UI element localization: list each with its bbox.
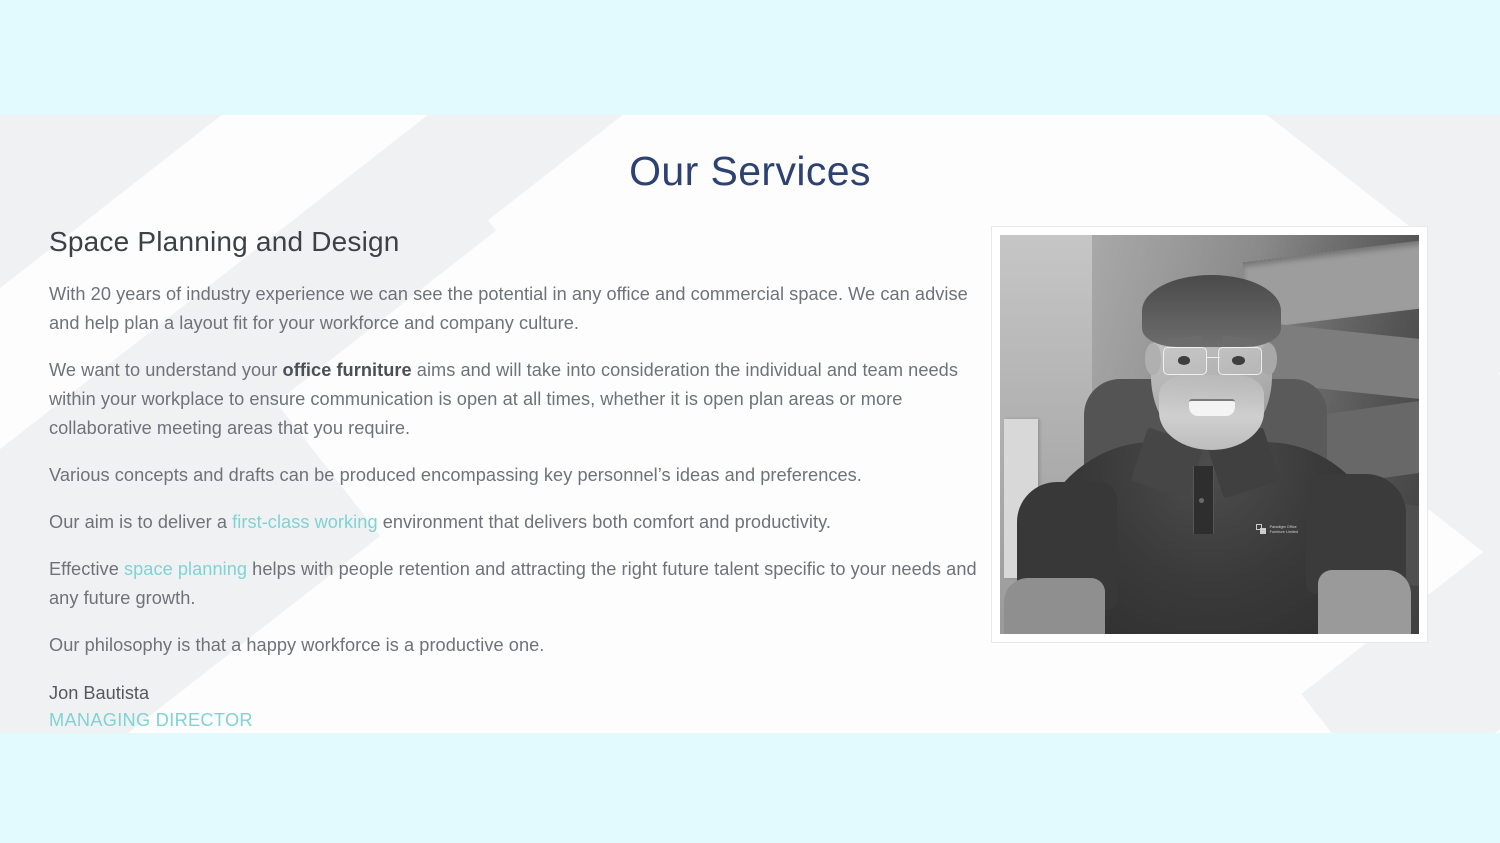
paragraph-effective-planning: Effective space planning helps with peop… — [49, 555, 984, 613]
signature-name: Jon Bautista — [49, 680, 984, 707]
top-accent-band — [0, 0, 1500, 115]
shirt-logo-text: Paradigm Office Furniture Limited — [1270, 525, 1299, 534]
photo-glasses-bridge — [1207, 357, 1220, 358]
photo-eye-left — [1178, 356, 1191, 365]
services-text-column: Space Planning and Design With 20 years … — [49, 226, 984, 734]
paradigm-squares-icon — [1256, 524, 1267, 535]
paragraph-understand-needs: We want to understand your office furnit… — [49, 356, 984, 443]
portrait-photo: Paradigm Office Furniture Limited — [1000, 235, 1419, 634]
shirt-logo-line-2: Furniture Limited — [1270, 530, 1299, 534]
bottom-accent-band — [0, 733, 1500, 843]
space-planning-link[interactable]: space planning — [124, 559, 247, 579]
paragraph-text-lead: Our aim is to deliver a — [49, 512, 232, 532]
paragraph-text-tail: environment that delivers both comfort a… — [378, 512, 831, 532]
page-title: Our Services — [0, 148, 1500, 195]
paragraph-philosophy: Our philosophy is that a happy workforce… — [49, 631, 984, 660]
service-heading: Space Planning and Design — [49, 226, 984, 258]
signature-role: MANAGING DIRECTOR — [49, 707, 984, 734]
paragraph-our-aim: Our aim is to deliver a first-class work… — [49, 508, 984, 537]
photo-hair — [1142, 275, 1280, 347]
paragraph-concepts-drafts: Various concepts and drafts can be produ… — [49, 461, 984, 490]
photo-smile — [1189, 399, 1235, 417]
photo-arm-left — [1004, 578, 1105, 634]
photo-eye-right — [1232, 356, 1245, 365]
photo-arm-right — [1318, 570, 1410, 634]
page-root: Our Services Space Planning and Design W… — [0, 0, 1500, 843]
shirt-brand-logo: Paradigm Office Furniture Limited — [1256, 524, 1299, 535]
paragraph-text-lead: We want to understand your — [49, 360, 283, 380]
photo-ear-right — [1260, 343, 1277, 375]
paragraph-experience: With 20 years of industry experience we … — [49, 280, 984, 338]
photo-ear-left — [1145, 343, 1162, 375]
portrait-photo-frame: Paradigm Office Furniture Limited — [991, 226, 1428, 643]
shirt-logo-line-1: Paradigm Office — [1270, 525, 1297, 529]
paragraph-text-lead: Effective — [49, 559, 124, 579]
first-class-working-link[interactable]: first-class working — [232, 512, 377, 532]
signature-block: Jon Bautista MANAGING DIRECTOR — [49, 680, 984, 734]
office-furniture-emphasis: office furniture — [283, 360, 412, 380]
